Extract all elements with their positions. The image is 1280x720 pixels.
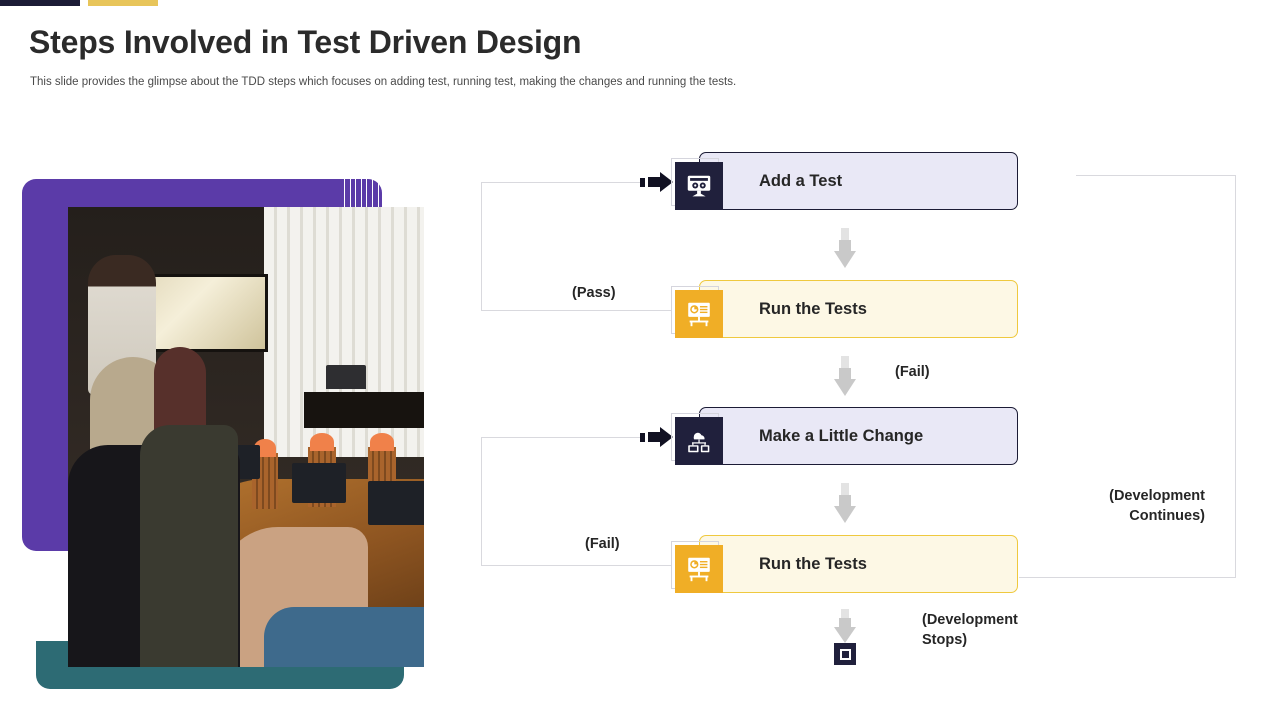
caption-fail-left: (Fail) — [585, 536, 620, 552]
monitor-test-icon — [675, 162, 723, 210]
node-label-make-a-little-change: Make a Little Change — [700, 427, 923, 446]
arrow-down-1 — [834, 228, 856, 268]
loop-continues-bottom-line — [1019, 577, 1236, 578]
arrow-down-4 — [834, 609, 856, 649]
caption-development-continues: (Development Continues) — [1060, 486, 1205, 526]
node-make-a-little-change[interactable]: Make a Little Change — [699, 407, 1018, 465]
loop-fail-vertical-line — [481, 437, 482, 566]
cloud-network-icon — [675, 417, 723, 465]
loop-fail-bottom-line — [481, 565, 671, 566]
caption-pass: (Pass) — [572, 285, 616, 301]
loop-continues-top-line — [1076, 175, 1236, 176]
node-add-a-test[interactable]: Add a Test — [699, 152, 1018, 210]
node-run-the-tests-2[interactable]: Run the Tests — [699, 535, 1018, 593]
loop-pass-top-line — [481, 182, 641, 183]
slide-canvas: Steps Involved in Test Driven Design Thi… — [0, 0, 1280, 720]
caption-fail-right: (Fail) — [895, 364, 930, 380]
loop-pass-bottom-line — [481, 310, 671, 311]
tdd-flow-diagram: Add a Test Run the Tests — [0, 0, 1280, 720]
presentation-board-icon-2 — [675, 545, 723, 593]
node-label-run-the-tests-1: Run the Tests — [700, 300, 867, 319]
inbound-arrow-add-a-test — [640, 171, 674, 193]
loop-pass-vertical-line — [481, 182, 482, 311]
arrow-down-2 — [834, 356, 856, 396]
loop-continues-vertical-line — [1235, 175, 1236, 578]
caption-development-stops: (Development Stops) — [922, 610, 1062, 650]
presentation-board-icon-1 — [675, 290, 723, 338]
inbound-arrow-make-a-little-change — [640, 426, 674, 448]
node-run-the-tests-1[interactable]: Run the Tests — [699, 280, 1018, 338]
node-label-run-the-tests-2: Run the Tests — [700, 555, 867, 574]
loop-fail-top-line — [481, 437, 641, 438]
arrow-down-3 — [834, 483, 856, 523]
